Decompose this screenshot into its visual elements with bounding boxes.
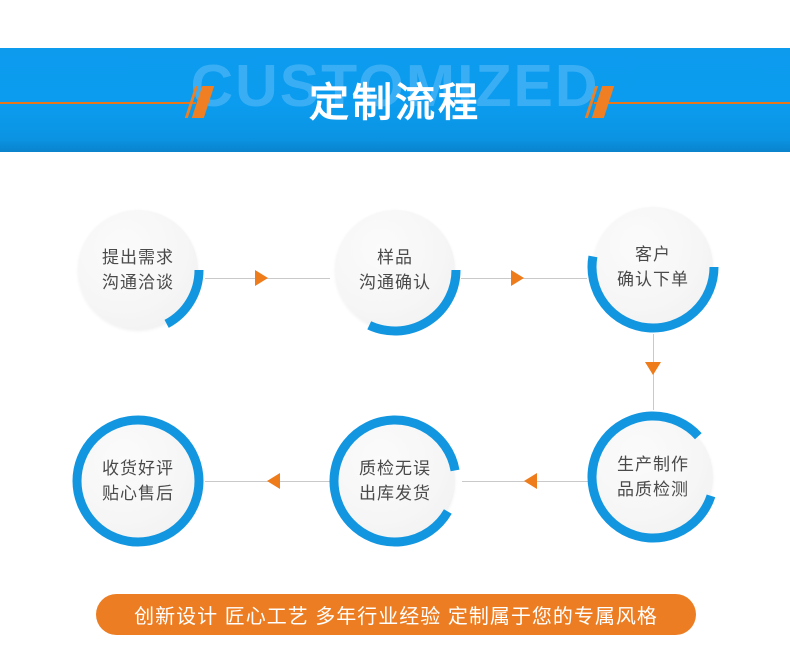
- flow-step-6[interactable]: 收货好评 贴心售后: [71, 414, 205, 548]
- process-flow-diagram: 提出需求 沟通洽谈 样品 沟通确认 客户 确认下单 生产制作 品质检测 质检无误: [0, 152, 790, 582]
- connector-step-3-to-step-4: [645, 334, 661, 410]
- arrow-left-icon: [524, 473, 537, 489]
- arrow-right-icon: [511, 270, 524, 286]
- footer-tagline-banner: 创新设计 匠心工艺 多年行业经验 定制属于您的专属风格: [96, 594, 696, 635]
- arrow-right-icon: [255, 270, 268, 286]
- step-label-line1: 客户: [635, 242, 671, 267]
- connector-step-1-to-step-2: [205, 270, 330, 286]
- connector-line: [461, 278, 587, 279]
- connector-step-4-to-step-5: [462, 473, 588, 489]
- connector-step-2-to-step-3: [461, 270, 587, 286]
- flow-step-4[interactable]: 生产制作 品质检测: [586, 410, 720, 544]
- step-label-line2: 沟通确认: [359, 270, 431, 295]
- footer-tagline-text: 创新设计 匠心工艺 多年行业经验 定制属于您的专属风格: [134, 600, 658, 629]
- page-title: 定制流程: [0, 76, 790, 130]
- arrow-down-icon: [645, 362, 661, 375]
- step-label-line2: 沟通洽谈: [102, 270, 174, 295]
- step-label-line2: 确认下单: [617, 267, 689, 292]
- step-label: 生产制作 品质检测: [586, 410, 720, 544]
- step-label-line2: 品质检测: [617, 477, 689, 502]
- step-label: 提出需求 沟通洽谈: [71, 203, 205, 337]
- step-label-line2: 贴心售后: [102, 481, 174, 506]
- step-label-line1: 样品: [377, 245, 413, 270]
- header-banner: CUSTOMIZED 定制流程: [0, 48, 790, 152]
- connector-step-5-to-step-6: [205, 473, 330, 489]
- step-label-line2: 出库发货: [359, 481, 431, 506]
- step-label-line1: 收货好评: [102, 456, 174, 481]
- step-label: 样品 沟通确认: [328, 203, 462, 337]
- step-label: 客户 确认下单: [586, 200, 720, 334]
- step-label: 收货好评 贴心售后: [71, 414, 205, 548]
- step-label-line1: 生产制作: [617, 452, 689, 477]
- step-label-line1: 质检无误: [359, 456, 431, 481]
- flow-step-3[interactable]: 客户 确认下单: [586, 200, 720, 334]
- arrow-left-icon: [267, 473, 280, 489]
- flow-step-2[interactable]: 样品 沟通确认: [328, 203, 462, 337]
- step-label: 质检无误 出库发货: [328, 414, 462, 548]
- flow-step-5[interactable]: 质检无误 出库发货: [328, 414, 462, 548]
- step-label-line1: 提出需求: [102, 245, 174, 270]
- flow-step-1[interactable]: 提出需求 沟通洽谈: [71, 203, 205, 337]
